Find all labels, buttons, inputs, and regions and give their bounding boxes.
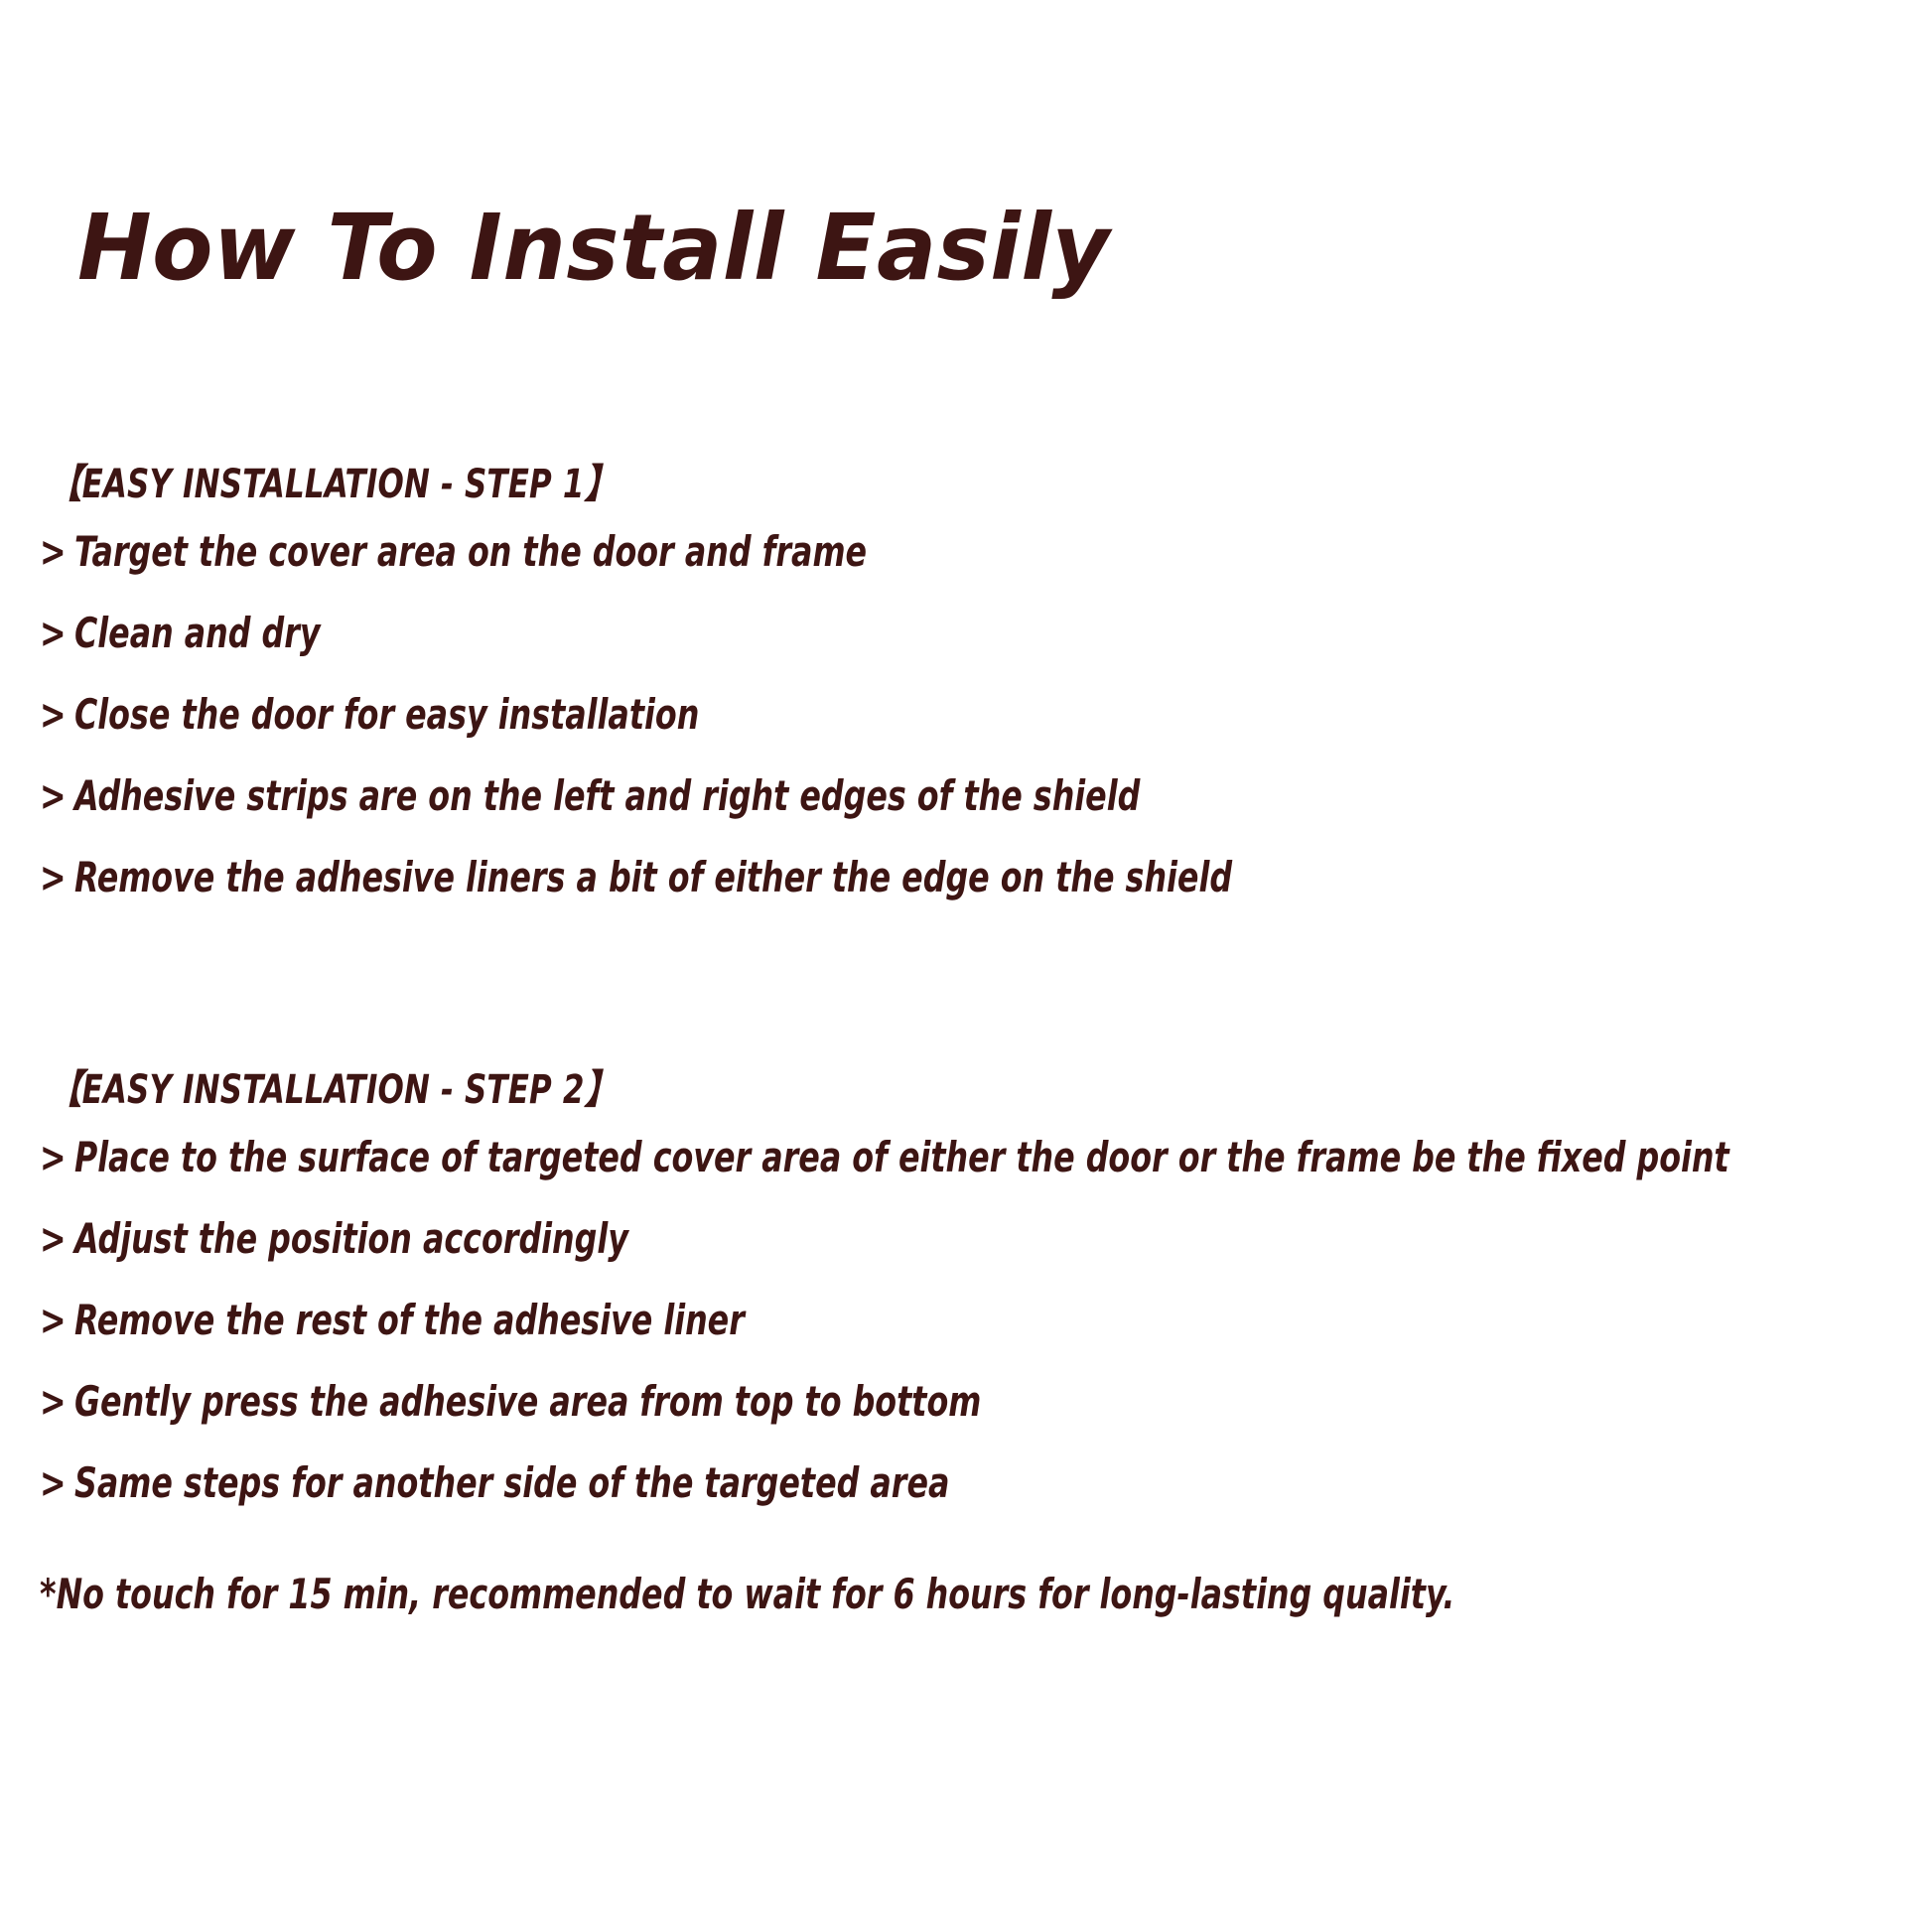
list-item-label: Place to the surface of targeted cover a… [74, 1133, 1729, 1181]
page-title: How To Install Easily [77, 201, 1110, 297]
chevron-right-icon: > [40, 1300, 67, 1341]
list-item-label: Gently press the adhesive area from top … [74, 1377, 981, 1426]
list-item: >Remove the adhesive liners a bit of eit… [40, 857, 1599, 898]
instruction-page: How To Install Easily 【EASY INSTALLATION… [0, 0, 1932, 1932]
install-section-step-2: 【EASY INSTALLATION - STEP 2】 >Place to t… [40, 1057, 1896, 1504]
list-item-label: Adhesive strips are on the left and righ… [74, 771, 1140, 820]
list-item: >Place to the surface of targeted cover … [40, 1137, 1599, 1178]
list-item: >Remove the rest of the adhesive liner [40, 1300, 1599, 1341]
list-item-label: Remove the adhesive liners a bit of eith… [74, 853, 1232, 901]
instructions-content: 【EASY INSTALLATION - STEP 1】 >Target the… [40, 452, 1896, 1504]
list-item-label: Remove the rest of the adhesive liner [74, 1296, 745, 1344]
chevron-right-icon: > [40, 694, 67, 736]
list-item-label: Same steps for another side of the targe… [74, 1458, 949, 1507]
chevron-right-icon: > [40, 1381, 67, 1423]
list-item-label: Clean and dry [74, 609, 321, 657]
chevron-right-icon: > [40, 531, 67, 573]
section-heading-step-1: 【EASY INSTALLATION - STEP 1】 [48, 452, 1637, 509]
chevron-right-icon: > [40, 775, 67, 817]
list-item: >Gently press the adhesive area from top… [40, 1381, 1599, 1423]
list-item: >Same steps for another side of the targ… [40, 1462, 1599, 1504]
list-item-label: Adjust the position accordingly [74, 1214, 628, 1263]
install-section-step-1: 【EASY INSTALLATION - STEP 1】 >Target the… [40, 452, 1896, 898]
list-item: >Adhesive strips are on the left and rig… [40, 775, 1599, 817]
footnote-note: *No touch for 15 min, recommended to wai… [40, 1574, 1454, 1615]
list-item: >Close the door for easy installation [40, 694, 1599, 736]
chevron-right-icon: > [40, 613, 67, 654]
list-item-label: Target the cover area on the door and fr… [74, 527, 867, 576]
bullet-list-step-1: >Target the cover area on the door and f… [40, 531, 1896, 898]
chevron-right-icon: > [40, 1218, 67, 1260]
section-heading-step-2: 【EASY INSTALLATION - STEP 2】 [48, 1057, 1637, 1115]
list-item-label: Close the door for easy installation [74, 690, 699, 739]
list-item: >Clean and dry [40, 613, 1599, 654]
chevron-right-icon: > [40, 1137, 67, 1178]
chevron-right-icon: > [40, 1462, 67, 1504]
list-item: >Target the cover area on the door and f… [40, 531, 1599, 573]
bullet-list-step-2: >Place to the surface of targeted cover … [40, 1137, 1896, 1504]
chevron-right-icon: > [40, 857, 67, 898]
list-item: >Adjust the position accordingly [40, 1218, 1599, 1260]
